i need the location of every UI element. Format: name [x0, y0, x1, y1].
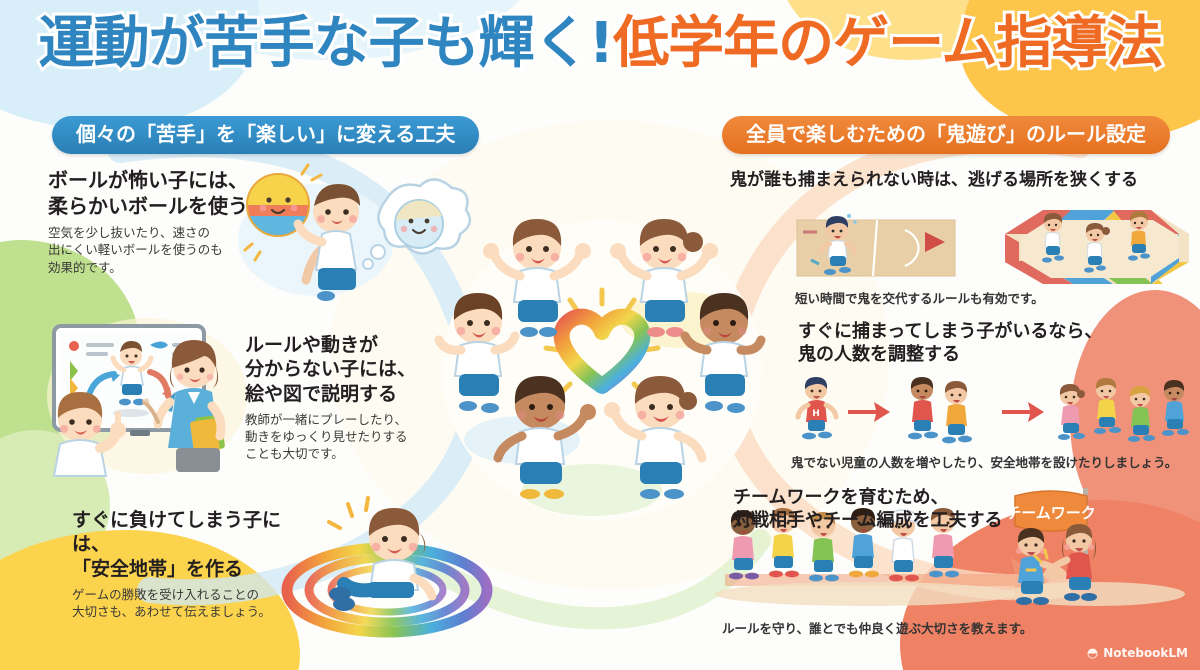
- illustration-court-size-comparison: [795, 196, 1195, 288]
- page-title: 運動が苦手な子も輝く!低学年のゲーム指導法: [0, 16, 1200, 72]
- right-item-1-caption: 短い時間で鬼を交代するルールも有効です。: [795, 288, 1044, 307]
- tagger-group-single: H: [798, 377, 836, 439]
- right-item-2-caption: 鬼でない児童の人数を増やしたり、安全地帯を設けたりしましょう。: [791, 452, 1177, 471]
- wide-court-icon: [797, 214, 955, 276]
- section-header-left: 個々の「苦手」を「楽しい」に変える工夫: [52, 116, 479, 154]
- right-item-3: チームワークを育むため、 対戦相手やチーム編成を工夫する: [733, 486, 1063, 532]
- left-item-3-body: ゲームの勝敗を受け入れることの 大切さも、あわせて伝えましょう。: [72, 586, 317, 621]
- left-item-2: ルールや動きが 分からない子には、 絵や図で説明する 教師が一緒にプレーしたり、…: [245, 333, 455, 463]
- section-header-right: 全員で楽しむための「鬼遊び」のルール設定: [722, 116, 1170, 154]
- right-item-2-heading: すぐに捕まってしまう子がいるなら、 鬼の人数を調整する: [798, 320, 1198, 366]
- left-item-1-heading: ボールが怖い子には、 柔らかいボールを使う: [48, 168, 286, 219]
- svg-text:H: H: [812, 409, 820, 419]
- notebooklm-logo-icon: ◓: [1087, 647, 1098, 660]
- notebooklm-label: NotebookLM: [1103, 646, 1188, 660]
- left-item-1-body: 空気を少し抜いたり、速さの 出にくい軽いボールを使うのも 効果的です。: [48, 224, 286, 276]
- right-item-3-heading: チームワークを育むため、 対戦相手やチーム編成を工夫する: [733, 486, 1063, 532]
- left-item-2-body: 教師が一緒にプレーしたり、 動きをゆっくり見せたりする ことも大切です。: [245, 411, 455, 463]
- left-item-2-heading: ルールや動きが 分からない子には、 絵や図で説明する: [245, 333, 455, 406]
- left-item-1: ボールが怖い子には、 柔らかいボールを使う 空気を少し抜いたり、速さの 出にくい…: [48, 168, 286, 276]
- page-title-orange-part: 低学年のゲーム指導法: [613, 16, 1161, 72]
- tagger-group-pair: [908, 377, 972, 443]
- right-item-1: 鬼が誰も捕まえられない時は、逃げる場所を狭くする: [730, 170, 1190, 192]
- tagger-group-many: [1058, 378, 1189, 442]
- arrow-right-icon-1: [848, 402, 890, 422]
- right-item-2: すぐに捕まってしまう子がいるなら、 鬼の人数を調整する: [798, 320, 1198, 366]
- arrow-right-icon-2: [1002, 402, 1044, 422]
- right-item-3-caption: ルールを守り、誰とでも仲良く遊ぶ大切さを教えます。: [722, 618, 1032, 637]
- illustration-tagger-count-progression: H: [790, 372, 1190, 450]
- infographic-canvas: 運動が苦手な子も輝く!低学年のゲーム指導法 個々の「苦手」を「楽しい」に変える工…: [0, 0, 1200, 670]
- illustration-teacher-whiteboard: [42, 306, 257, 476]
- right-item-1-heading: 鬼が誰も捕まえられない時は、逃げる場所を狭くする: [730, 170, 1190, 192]
- small-play-area-icon: [1005, 210, 1189, 284]
- page-title-blue-part: 運動が苦手な子も輝く!: [39, 16, 614, 72]
- illustration-children-around-heart: [432, 200, 772, 530]
- left-item-3-heading: すぐに負けてしまう子には、 「安全地帯」を作る: [72, 508, 317, 581]
- notebooklm-watermark: ◓ NotebookLM: [1087, 646, 1188, 660]
- left-item-3: すぐに負けてしまう子には、 「安全地帯」を作る ゲームの勝敗を受け入れることの …: [72, 508, 317, 620]
